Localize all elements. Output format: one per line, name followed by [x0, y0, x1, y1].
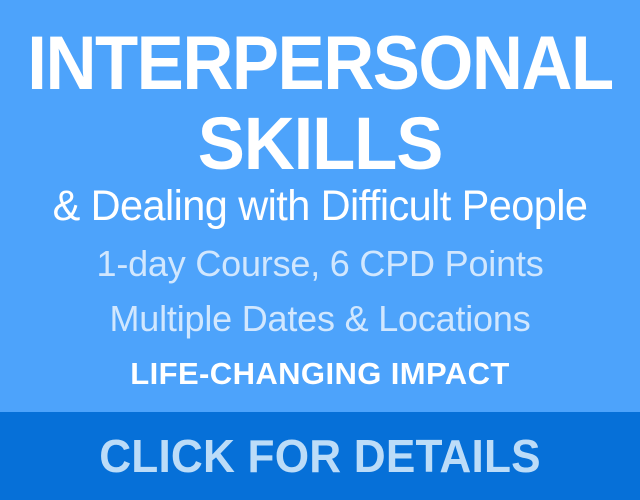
banner-detail-dates-locations: Multiple Dates & Locations: [0, 301, 640, 337]
banner-content-area: INTERPERSONAL SKILLS & Dealing with Diff…: [0, 0, 640, 412]
banner-kicker: LIFE-CHANGING IMPACT: [0, 358, 640, 389]
cta-button-label: CLICK FOR DETAILS: [99, 433, 541, 479]
banner-subtitle: & Dealing with Difficult People: [11, 185, 629, 228]
advertisement-banner[interactable]: INTERPERSONAL SKILLS & Dealing with Diff…: [0, 0, 640, 500]
banner-detail-course-info: 1-day Course, 6 CPD Points: [0, 246, 640, 282]
headline-line-1: INTERPERSONAL: [22, 27, 617, 101]
headline-line-2: SKILLS: [14, 107, 625, 181]
cta-button[interactable]: CLICK FOR DETAILS: [0, 412, 640, 500]
